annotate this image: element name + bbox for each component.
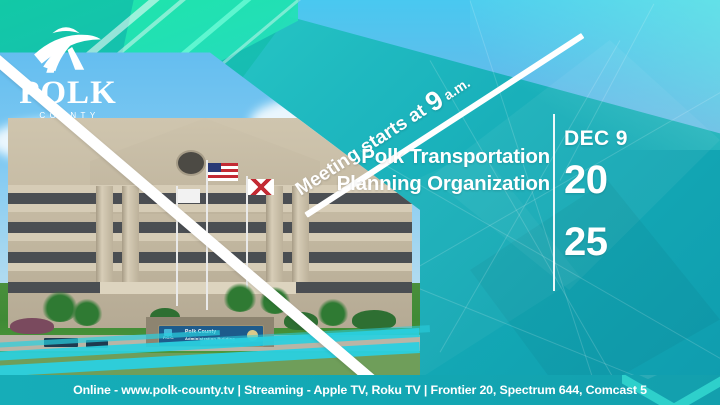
photo-window-band-3: [8, 252, 412, 263]
polk-county-logo: POLK COUNTY: [14, 24, 122, 120]
photo-column-1: [96, 186, 113, 282]
photo-floor-ledge-4: [8, 263, 412, 271]
photo-building-oculus: [176, 150, 206, 176]
shrub-3: [10, 318, 54, 334]
event-title: Polk Transportation Planning Organizatio…: [322, 143, 550, 197]
photo-column-3: [266, 186, 283, 282]
logo-wordmark: POLK: [14, 76, 122, 110]
flagpole-3: [176, 186, 178, 306]
date-year-top: 20: [564, 156, 628, 204]
footer-broadcast-info: Online - www.polk-county.tv | Streaming …: [73, 383, 647, 397]
flag-usa: [208, 163, 238, 181]
photo-window-band-2: [8, 222, 412, 233]
palm-2: [70, 296, 104, 326]
event-title-line-2: Planning Organization: [322, 170, 550, 197]
footer-bar: Online - www.polk-county.tv | Streaming …: [0, 375, 720, 405]
flag-white: [178, 189, 200, 203]
event-title-line-1: Polk Transportation: [322, 143, 550, 170]
meeting-time-suffix: a.m.: [437, 74, 472, 105]
photo-column-2: [122, 186, 139, 282]
date-day-month: DEC 9: [564, 128, 628, 150]
logo-subtitle: COUNTY: [17, 111, 122, 120]
event-date: DEC 9 20 25: [564, 128, 628, 266]
flag-florida: [248, 179, 274, 195]
date-divider: [553, 114, 555, 291]
date-year-bottom: 25: [564, 218, 628, 266]
promo-banner: Polk County Administration Building P.C.…: [0, 0, 720, 405]
palm-5: [316, 296, 350, 326]
polk-county-logo-icon: [28, 24, 104, 76]
